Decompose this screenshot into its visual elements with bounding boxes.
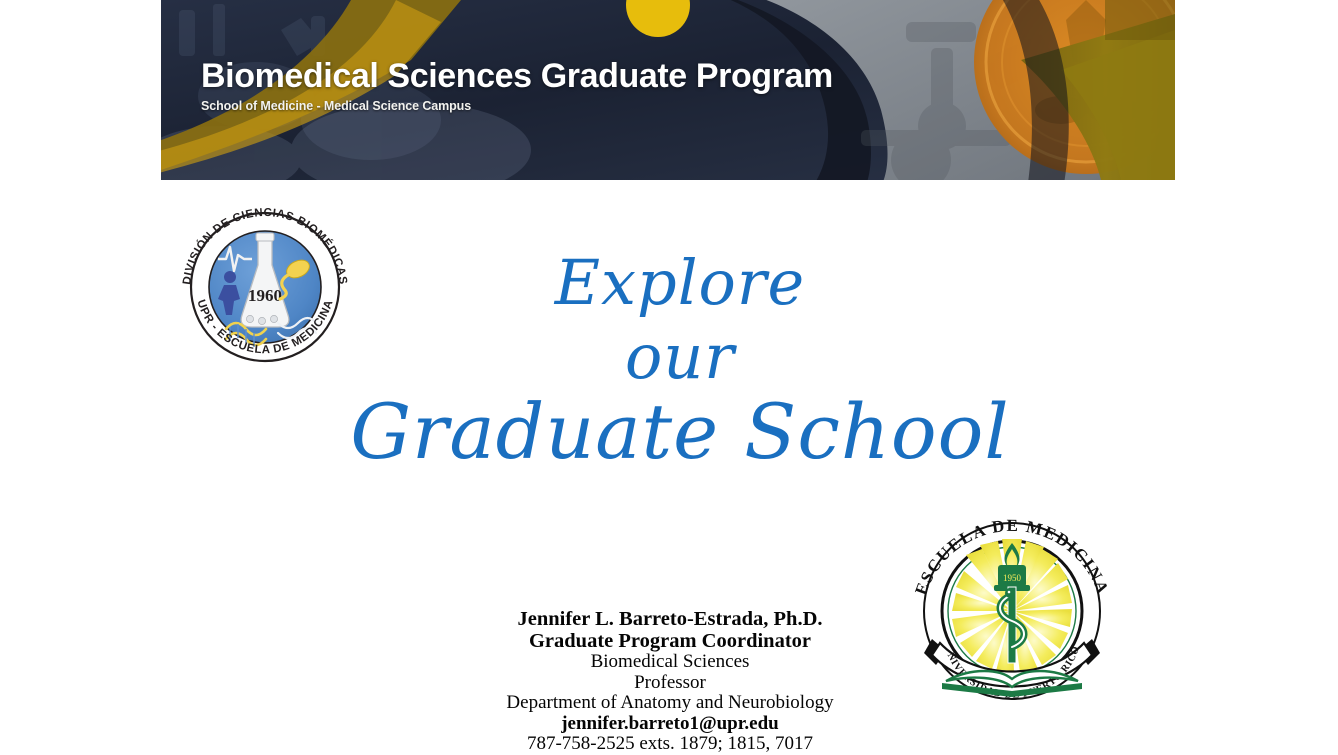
banner-title: Biomedical Sciences Graduate Program bbox=[201, 57, 833, 96]
headline-explore-our-graduate-school: Explore our Graduate School bbox=[330, 252, 1030, 470]
division-biomedical-sciences-logo: 1960 DIVISIÓN DE CIENCIAS BIO bbox=[174, 203, 356, 363]
contact-department: Department of Anatomy and Neurobiology bbox=[400, 693, 940, 714]
headline-line-3: Graduate School bbox=[330, 394, 1030, 470]
contact-name: Jennifer L. Barreto-Estrada, Ph.D. bbox=[400, 608, 940, 630]
page-banner: 1950 Biomedical Sciences Graduate Progra… bbox=[161, 0, 1175, 180]
contact-phone: 787-758-2525 exts. 1879; 1815, 7017 bbox=[400, 734, 940, 755]
banner-subtitle: School of Medicine - Medical Science Cam… bbox=[201, 99, 471, 113]
division-logo-graphic: 1960 DIVISIÓN DE CIENCIAS BIO bbox=[174, 203, 356, 363]
contact-rank: Professor bbox=[400, 673, 940, 694]
contact-email[interactable]: jennifer.barreto1@upr.edu bbox=[400, 714, 940, 735]
division-logo-year: 1960 bbox=[248, 286, 282, 305]
headline-line-2: our bbox=[330, 326, 1030, 388]
contact-role: Graduate Program Coordinator bbox=[400, 630, 940, 652]
medicine-seal-year: 1950 bbox=[1003, 573, 1022, 583]
contact-program: Biomedical Sciences bbox=[400, 652, 940, 673]
headline-line-1: Explore bbox=[330, 252, 1030, 314]
contact-block: Jennifer L. Barreto-Estrada, Ph.D. Gradu… bbox=[400, 608, 940, 755]
